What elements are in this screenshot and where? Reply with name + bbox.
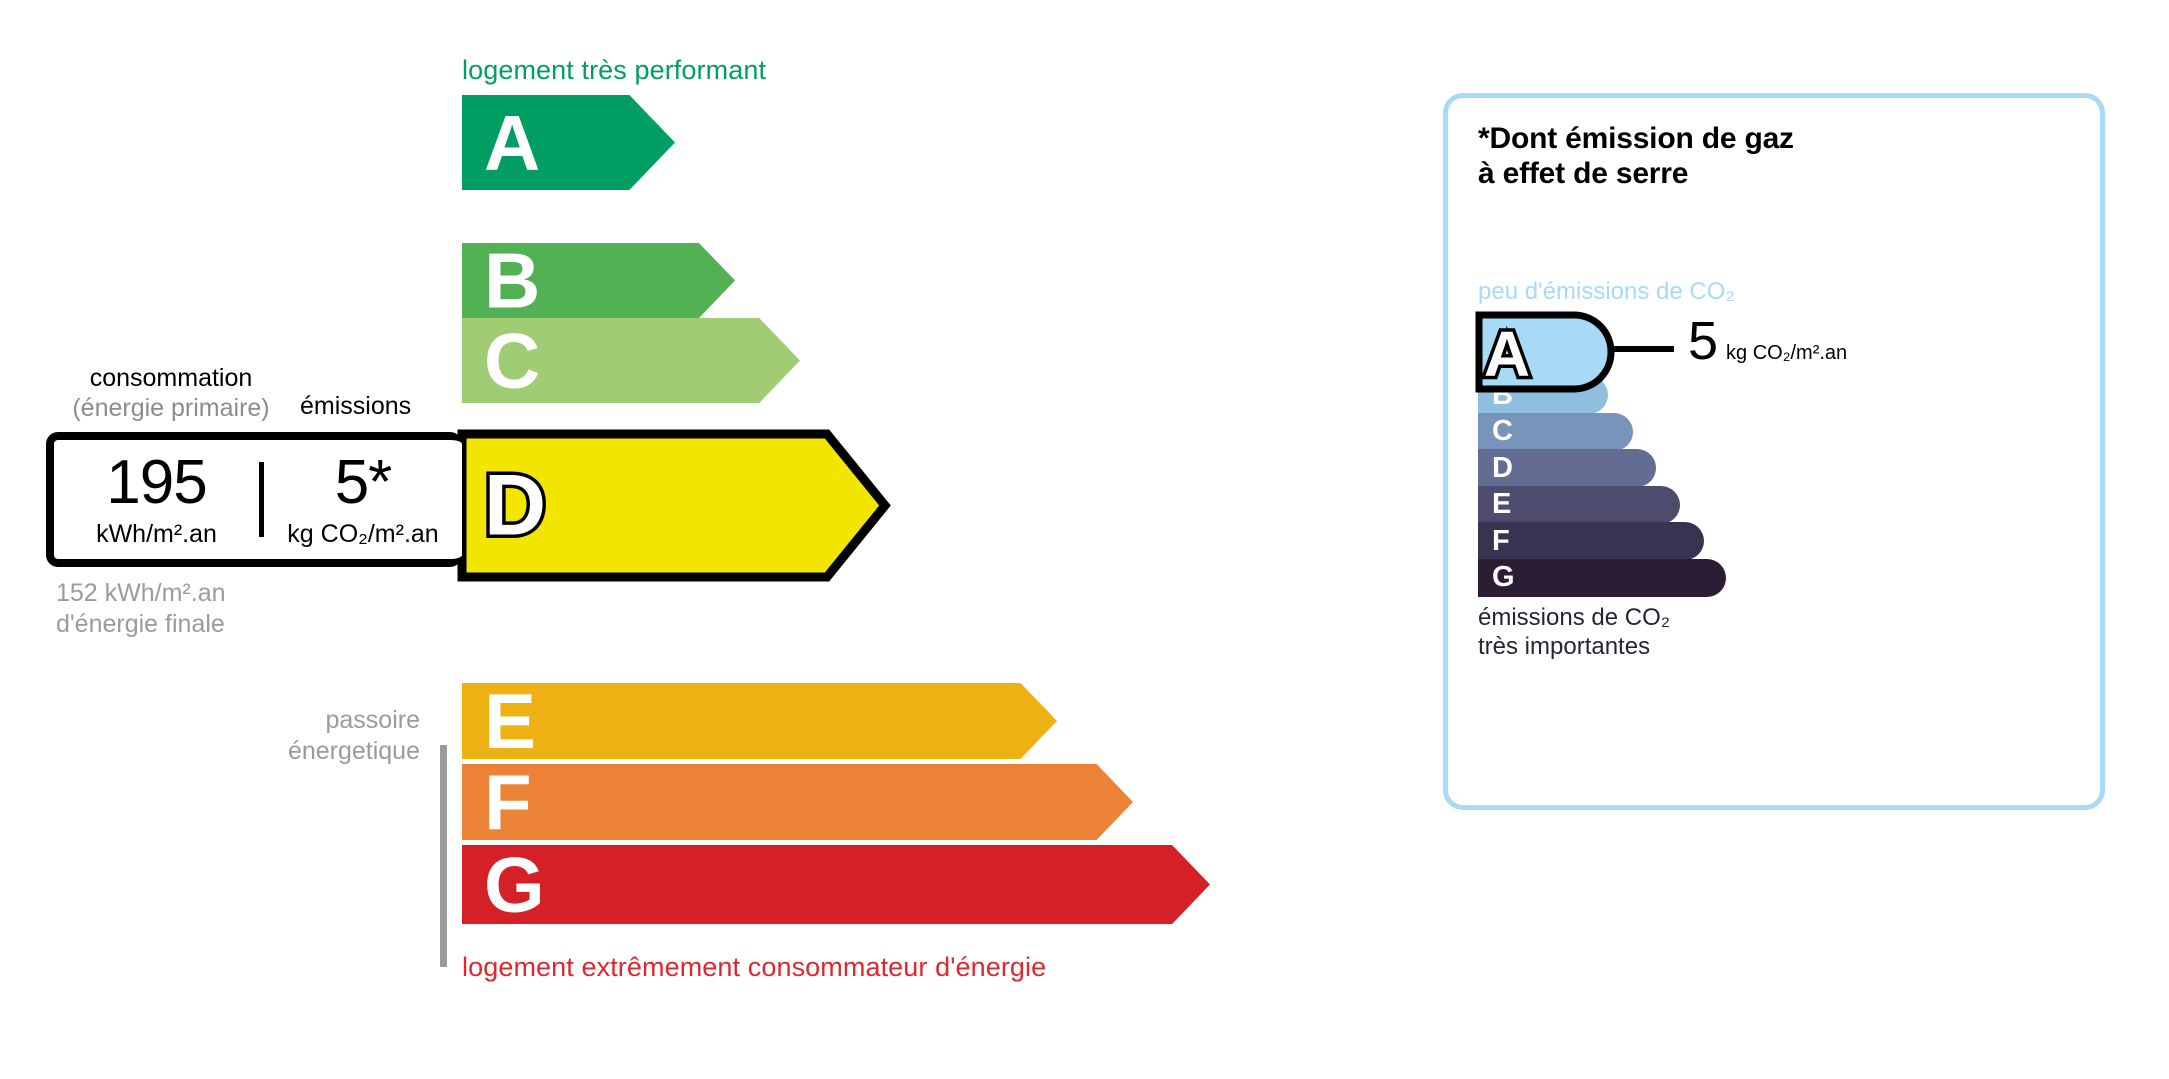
energy-band-d: D bbox=[456, 428, 891, 583]
energy-band-letter-f: F bbox=[484, 758, 532, 846]
co2-bottom-line2: très importantes bbox=[1478, 633, 1670, 662]
co2-connector-line bbox=[1608, 346, 1674, 352]
consumption-label-sub: (énergie primaire) bbox=[46, 394, 296, 424]
co2-panel-title: *Dont émission de gaz à effet de serre bbox=[1478, 121, 1794, 191]
consumption-label-main: consommation bbox=[46, 364, 296, 394]
energy-band-letter-d: D bbox=[484, 458, 546, 554]
co2-bar-e: E bbox=[1478, 486, 1680, 524]
energy-band-f: F bbox=[462, 764, 1133, 840]
co2-bar-d: D bbox=[1478, 449, 1656, 487]
co2-value-number: 5 bbox=[1688, 314, 1718, 368]
energy-band-letter-a: A bbox=[484, 99, 540, 187]
energy-bottom-caption: logement extrêmement consommateur d'éner… bbox=[462, 952, 1046, 983]
co2-bar-letter-f: F bbox=[1492, 527, 1510, 556]
co2-selected-badge-letter: A bbox=[1484, 318, 1530, 390]
emissions-label: émissions bbox=[300, 392, 460, 422]
energy-band-letter-b: B bbox=[484, 237, 540, 325]
co2-value-unit: kg CO₂/m².an bbox=[1726, 343, 1847, 363]
consumption-label: consommation (énergie primaire) bbox=[46, 364, 296, 423]
co2-bar-letter-g: G bbox=[1492, 563, 1515, 592]
energy-band-letter-c: C bbox=[484, 317, 540, 405]
energy-band-shape-f bbox=[462, 764, 1133, 840]
co2-selected-badge: A bbox=[1474, 310, 1616, 394]
energy-band-g: G bbox=[462, 845, 1210, 924]
consumption-unit: kWh/m².an bbox=[96, 522, 217, 547]
emission-value: 5* bbox=[335, 452, 392, 514]
co2-title-line1: *Dont émission de gaz bbox=[1478, 121, 1794, 156]
dpe-diagram: logement très performant ABCDEFG logemen… bbox=[0, 0, 2169, 1079]
co2-bar-letter-e: E bbox=[1492, 490, 1511, 519]
passoire-bracket bbox=[440, 745, 447, 967]
emission-value-cell: 5* kg CO₂/m².an bbox=[264, 440, 462, 559]
energy-band-shape-e bbox=[462, 683, 1057, 759]
consumption-value: 195 bbox=[106, 452, 206, 514]
co2-top-caption: peu d'émissions de CO₂ bbox=[1478, 278, 1735, 306]
consumption-value-cell: 195 kWh/m².an bbox=[54, 440, 259, 559]
energy-band-b: B bbox=[462, 243, 735, 318]
energy-band-shape-g bbox=[462, 845, 1210, 924]
co2-bottom-caption: émissions de CO₂ très importantes bbox=[1478, 604, 1670, 662]
co2-bar-g: G bbox=[1478, 559, 1726, 597]
energy-band-e: E bbox=[462, 683, 1057, 759]
co2-panel: *Dont émission de gaz à effet de serre p… bbox=[1443, 93, 2105, 810]
co2-title-line2: à effet de serre bbox=[1478, 156, 1794, 191]
co2-value-group: 5 kg CO₂/m².an bbox=[1688, 314, 1847, 368]
co2-bottom-line1: émissions de CO₂ bbox=[1478, 604, 1670, 633]
energy-band-letter-e: E bbox=[484, 677, 536, 765]
passoire-line2: énergetique bbox=[200, 736, 420, 767]
passoire-line1: passoire bbox=[200, 705, 420, 736]
co2-bar-f: F bbox=[1478, 522, 1704, 560]
final-energy-label: 152 kWh/m².an d'énergie finale bbox=[56, 578, 226, 639]
co2-bar-c: C bbox=[1478, 413, 1633, 451]
energy-band-letter-g: G bbox=[484, 841, 545, 929]
emission-unit: kg CO₂/m².an bbox=[287, 522, 438, 547]
energy-band-a: A bbox=[462, 95, 675, 190]
final-energy-line2: d'énergie finale bbox=[56, 609, 226, 640]
co2-bar-letter-d: D bbox=[1492, 454, 1513, 483]
passoire-label: passoire énergetique bbox=[200, 705, 420, 766]
final-energy-line1: 152 kWh/m².an bbox=[56, 578, 226, 609]
energy-top-caption: logement très performant bbox=[462, 55, 766, 86]
value-box: 195 kWh/m².an 5* kg CO₂/m².an bbox=[46, 432, 462, 567]
co2-bar-letter-c: C bbox=[1492, 417, 1513, 446]
energy-performance-chart: logement très performant ABCDEFG logemen… bbox=[0, 0, 1400, 1079]
energy-band-c: C bbox=[462, 318, 800, 403]
